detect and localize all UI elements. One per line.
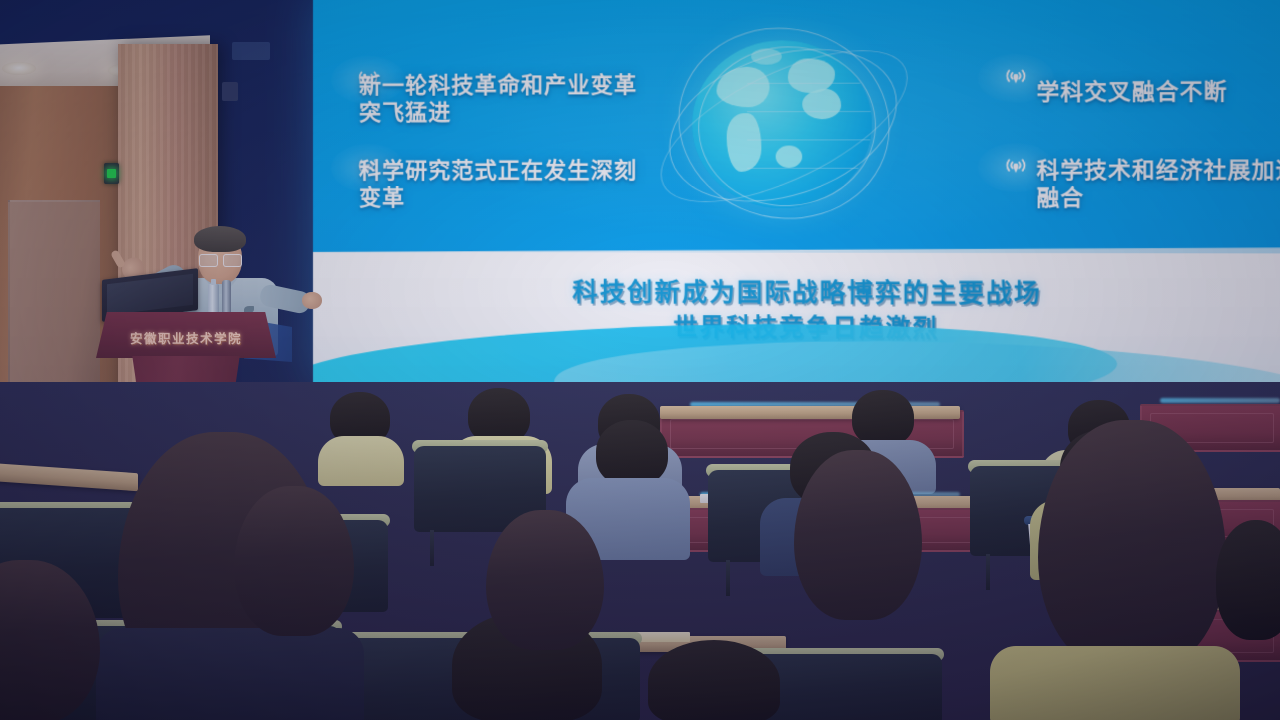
slide-wave-decoration	[313, 322, 1280, 389]
podium-institution-label: 安徽职业技术学院	[106, 328, 266, 347]
slide-headline-bottom-right: 科学技术和经济社展加速渗透融合	[1037, 156, 1280, 212]
wall-sensor-icon	[222, 82, 238, 101]
globe-icon	[637, 13, 944, 231]
speaker-right-hand	[302, 292, 322, 309]
slide-headline-bottom-left: 科学研究范式正在发生深刻变革	[359, 157, 641, 212]
lecture-hall-scene: 新一轮科技革命和产业变革突飞猛进 科学研究范式正在发生深刻变革 学科交叉融合不断…	[0, 0, 1280, 720]
speaker-hair	[194, 226, 246, 252]
ceiling-light	[2, 62, 36, 75]
podium-front-face: 安徽职业技术学院	[96, 312, 276, 358]
slide-banner-line1: 科技创新成为国际战略博弈的主要战场	[313, 274, 1280, 313]
access-control-panel[interactable]	[104, 163, 119, 184]
water-bottle	[222, 280, 231, 316]
status-light-green-icon	[107, 169, 116, 178]
slide-headline-top-right: 学科交叉融合不断	[1037, 77, 1280, 106]
door-panel[interactable]	[8, 200, 100, 402]
slide-bottom-panel: 科技创新成为国际战略博弈的主要战场 世界科技竞争日趋激烈	[313, 252, 1280, 389]
wall-sign	[232, 42, 270, 60]
slide-headline-top-left: 新一轮科技革命和产业变革突飞猛进	[359, 71, 641, 126]
water-bottle	[208, 284, 219, 316]
projection-screen: 新一轮科技革命和产业变革突飞猛进 科学研究范式正在发生深刻变革 学科交叉融合不断…	[313, 0, 1280, 389]
glasses-icon	[199, 254, 242, 265]
